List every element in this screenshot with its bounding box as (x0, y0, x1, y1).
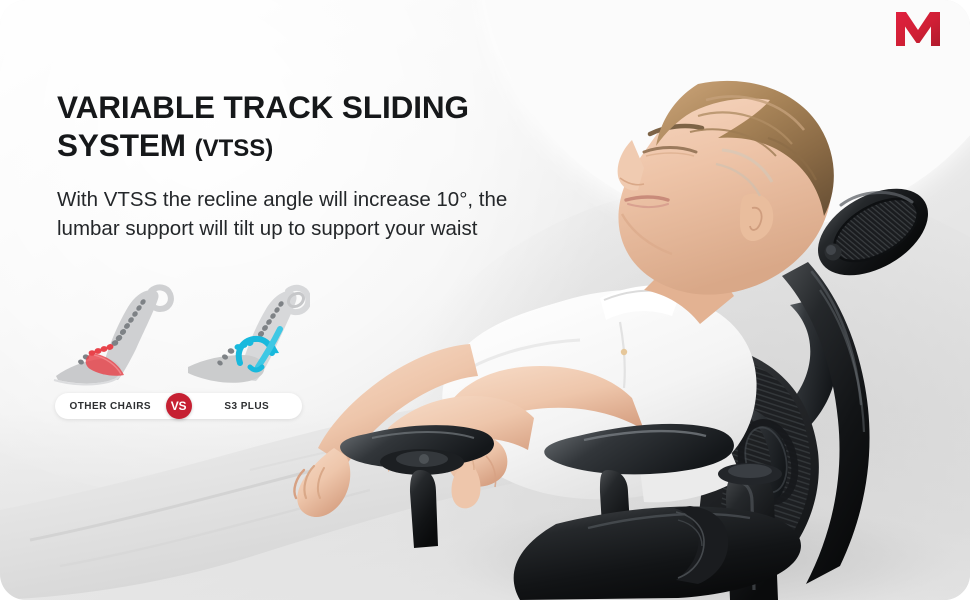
product-feature-banner: VARIABLE TRACK SLIDING SYSTEM (VTSS) Wit… (0, 0, 970, 600)
headline-line-2: SYSTEM (57, 127, 195, 163)
s3-plus-label: S3 PLUS (180, 401, 303, 412)
comparison-figures (48, 281, 310, 389)
m-logo-icon (894, 8, 942, 48)
vs-badge: VS (166, 393, 192, 419)
page-title: VARIABLE TRACK SLIDING SYSTEM (VTSS) (57, 88, 527, 165)
comparison-block: OTHER CHAIRS S3 PLUS VS (48, 281, 310, 419)
other-chairs-label: OTHER CHAIRS (55, 401, 180, 412)
subtitle-text: With VTSS the recline angle will increas… (57, 185, 527, 243)
background-floor-shadow (0, 410, 970, 600)
s3-plus-spine-diagram (184, 281, 310, 389)
brand-logo[interactable] (894, 8, 942, 48)
other-chairs-spine-diagram (48, 281, 174, 389)
s3-plus-icon (184, 281, 310, 389)
headline-abbreviation: (VTSS) (195, 135, 274, 162)
other-chairs-icon (48, 281, 174, 389)
headline-line-1: VARIABLE TRACK SLIDING (57, 89, 469, 125)
copy-block: VARIABLE TRACK SLIDING SYSTEM (VTSS) Wit… (57, 88, 527, 243)
comparison-labels: OTHER CHAIRS S3 PLUS VS (55, 393, 302, 419)
